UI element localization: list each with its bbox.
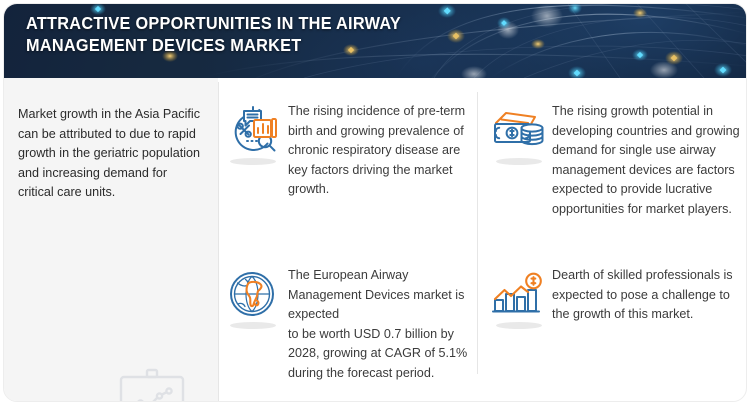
fact-text-market-drivers: The rising incidence of pre-term birth a…	[288, 102, 472, 200]
fact-text-market-opportunities: The rising growth potential in developin…	[552, 102, 742, 219]
icon-shadow	[230, 322, 276, 329]
column-divider-left	[218, 82, 219, 402]
left-panel-paragraph: Market growth in the Asia Pacific can be…	[18, 105, 204, 203]
icon-shadow	[496, 158, 542, 165]
header-banner: Attractive Opportunities in the Airway M…	[4, 4, 747, 78]
fact-text-europe-market-forecast: The European Airway Management Devices m…	[288, 266, 472, 383]
globe-icon	[224, 266, 282, 324]
infographic-root: Attractive Opportunities in the Airway M…	[0, 0, 750, 405]
page-title: Attractive Opportunities in the Airway M…	[26, 13, 463, 56]
icon-shadow	[496, 322, 542, 329]
growth-bar-chart-dollar-icon	[490, 266, 548, 324]
fact-text-market-challenges: Dearth of skilled professionals is expec…	[552, 266, 742, 325]
presentation-chart-magnifier-icon	[107, 366, 203, 402]
infographic-card: Attractive Opportunities in the Airway M…	[3, 3, 747, 402]
analytics-percent-search-icon	[224, 102, 282, 160]
icon-shadow	[230, 158, 276, 165]
money-cash-coins-icon	[490, 102, 548, 160]
left-region-panel: Market growth in the Asia Pacific can be…	[4, 78, 218, 402]
column-divider-right	[477, 92, 478, 374]
